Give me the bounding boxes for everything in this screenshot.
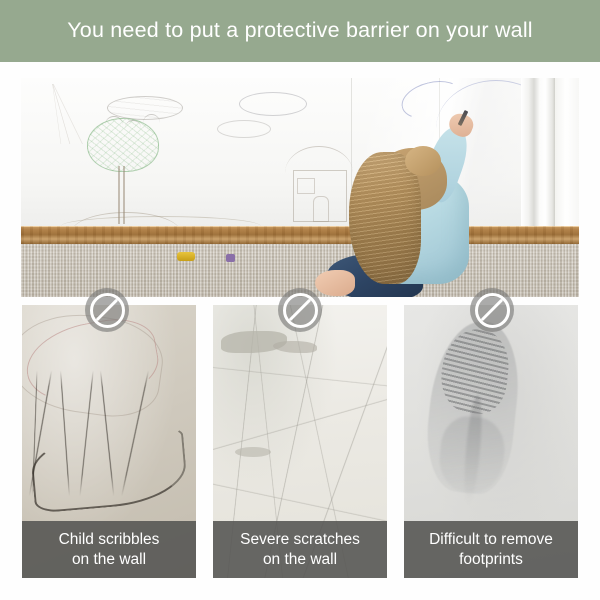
no-entry-icon [278,288,322,332]
wall-drawing-cloud [217,120,271,138]
no-entry-ring [283,293,318,328]
toy-car [177,252,195,261]
girl-foot [315,270,355,296]
caption-line-2: on the wall [263,550,337,570]
wall-drawing-cloud [239,92,307,116]
wall-drawing-house-window [297,178,315,194]
no-entry-ring [475,293,510,328]
no-entry-icon [85,288,129,332]
door-casing [521,78,555,230]
hero-image [21,78,579,297]
issue-panel-child-scribbles: Child scribbles on the wall [22,305,196,578]
panel-caption: Difficult to remove footprints [404,521,578,578]
issue-panel-severe-scratches: Severe scratches on the wall [213,305,387,578]
panel-caption: Severe scratches on the wall [213,521,387,578]
no-entry-slash [481,299,504,322]
girl-ponytail [405,146,441,176]
caption-line-1: Severe scratches [240,530,360,550]
caption-line-2: footprints [459,550,523,570]
paint-chip [235,447,271,457]
toy-block [226,254,235,262]
promo-infographic: You need to put a protective barrier on … [0,0,600,600]
caption-line-1: Difficult to remove [429,530,553,550]
no-entry-slash [96,299,119,322]
caption-line-2: on the wall [72,550,146,570]
header-banner: You need to put a protective barrier on … [0,0,600,62]
caption-line-1: Child scribbles [59,530,160,550]
panel-caption: Child scribbles on the wall [22,521,196,578]
wall-drawing-streaks [43,84,83,144]
no-entry-ring [90,293,125,328]
no-entry-slash [289,299,312,322]
girl-figure [321,112,501,297]
page-title: You need to put a protective barrier on … [67,20,533,42]
door-casing-edge [555,78,579,230]
no-entry-icon [470,288,514,332]
wall-drawing-tree-canopy [87,118,159,172]
issue-panel-difficult-footprints: Difficult to remove footprints [404,305,578,578]
